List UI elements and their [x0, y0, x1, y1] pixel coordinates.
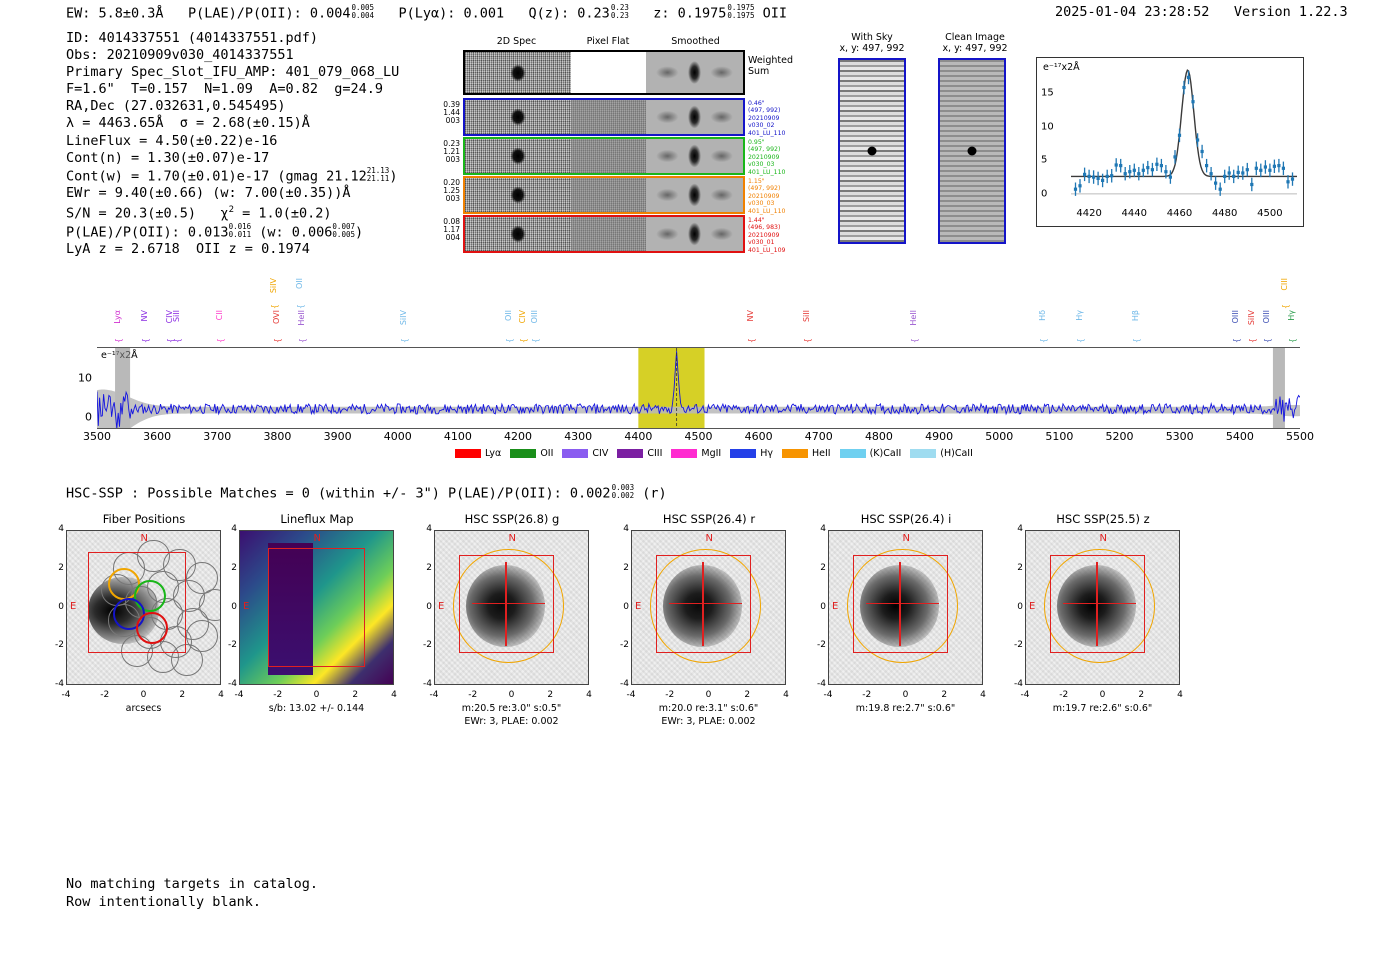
cell-pixelflat-wsum [571, 52, 646, 93]
cell-smoothed-4 [646, 217, 743, 251]
emission-line-label-NV: NV [141, 310, 149, 321]
panel-xtick: 4 [386, 690, 402, 700]
cell-2dspec-1 [465, 100, 571, 134]
panel-ytick: 0 [611, 602, 629, 612]
fullspec-xtick: 3700 [203, 430, 231, 443]
header-z-errors: 0.19750.1975 [727, 4, 754, 20]
cell-2dspec-3 [465, 178, 571, 212]
fullspec-xtick: 5000 [985, 430, 1013, 443]
hsc-header-tail: (r) [642, 485, 666, 501]
panel-xtick: -4 [58, 690, 74, 700]
fullspec-xtick: 4900 [925, 430, 953, 443]
info-gmag-errors: 21.1321.11 [367, 167, 390, 183]
legend-item-CIV: CIV [562, 448, 608, 459]
image-panel-lineflux-map[interactable]: NE [239, 530, 394, 685]
emission-line-label-SiIV: SiIV [270, 278, 278, 293]
header-plae-errors: 0.0050.004 [352, 4, 375, 20]
cell-smoothed-wsum [646, 52, 743, 93]
legend-item-MgII: MgII [671, 448, 721, 459]
legend-label: OII [540, 448, 553, 459]
panel-xtick: 4 [975, 690, 991, 700]
panel-xtick: -2 [270, 690, 286, 700]
weighted-sum-label: Weighted Sum [748, 55, 793, 77]
cell-2dspec-4 [465, 217, 571, 251]
panel-ytick: -4 [1005, 679, 1023, 689]
panel-ytick: 4 [808, 524, 826, 534]
panel-caption-primary-3: m:20.0 re:3.1" s:0.6" [594, 703, 824, 715]
col-title-pixelflat: Pixel Flat [570, 36, 646, 47]
panel-ytick: 4 [414, 524, 432, 534]
header-plya: P(Lyα): 0.001 [398, 5, 504, 21]
col-title-smoothed: Smoothed [646, 36, 745, 47]
info-radec: RA,Dec (27.032631,0.545495) [66, 98, 285, 114]
fullspec-xtick: 3900 [324, 430, 352, 443]
cell-pixelflat-2 [571, 139, 646, 173]
legend-swatch [730, 449, 756, 458]
cutout-title-clean-text: Clean Image [923, 32, 1027, 43]
fullspec-xtick: 5400 [1226, 430, 1254, 443]
legend-swatch [840, 449, 866, 458]
cutout-title-clean-image: Clean Image x, y: 497, 992 [923, 32, 1027, 54]
panel-xtick: 4 [1172, 690, 1188, 700]
panel-xtick: -2 [662, 690, 678, 700]
info-wavelength-sigma: λ = 4463.65Å σ = 2.68(±0.15)Å [66, 115, 310, 131]
spec-row-1-metadata: 0.46"(497, 992)20210909v030_02401_LU_110 [748, 100, 828, 137]
fullspec-xtick: 5200 [1106, 430, 1134, 443]
panel-ytick: -4 [219, 679, 237, 689]
full-spectrum-plot[interactable]: e⁻¹⁷x2Å [97, 347, 1300, 429]
cutout-title-with-sky-text: With Sky [823, 32, 921, 43]
panel-xtick: 4 [213, 690, 229, 700]
panel-xtick: 2 [1133, 690, 1149, 700]
panel-xtick: -4 [1017, 690, 1033, 700]
legend-item-CIII: CIII [617, 448, 662, 459]
image-panel-hsc-ssp-25-5-z[interactable]: NE [1025, 530, 1180, 685]
legend-label: CIV [592, 448, 608, 459]
spec-row-4[interactable] [463, 215, 745, 253]
fullspec-xtick: 3800 [263, 430, 291, 443]
panel-xtick: -2 [859, 690, 875, 700]
emission-line-label-SiII: SiII [803, 310, 811, 322]
panel-ytick: 4 [1005, 524, 1023, 534]
info-redshifts: LyA z = 2.6718 OII z = 0.1974 [66, 241, 310, 257]
info-plae-c: ) [355, 224, 363, 240]
panel-ytick: 2 [46, 563, 64, 573]
emission-line-brace: { [400, 338, 409, 343]
panel-title-5: HSC SSP(25.5) z [1016, 512, 1191, 526]
emission-line-label-OIII: OIII [1232, 310, 1240, 323]
panel-xtick: 0 [136, 690, 152, 700]
panel-caption-secondary-2: EWr: 3, PLAE: 0.002 [397, 716, 627, 728]
panel-title-3: HSC SSP(26.4) r [622, 512, 797, 526]
emission-line-label-H: Hδ [1039, 310, 1047, 321]
version: Version 1.22.3 [1234, 4, 1348, 20]
fullspec-xtick: 5500 [1286, 430, 1314, 443]
panel-ytick: -2 [46, 640, 64, 650]
legend-item-KCaII: (K)CaII [840, 448, 902, 459]
legend-label: (H)CaII [940, 448, 973, 459]
fullspec-xtick: 4400 [624, 430, 652, 443]
fullspec-xtick: 4100 [444, 430, 472, 443]
legend-swatch [562, 449, 588, 458]
linefit-xtick: 4460 [1167, 208, 1192, 219]
emission-line-brace: { [531, 338, 540, 343]
panel-ytick: -4 [808, 679, 826, 689]
emission-line-brace: { [1263, 338, 1272, 343]
panel-xtick: -2 [1056, 690, 1072, 700]
spec-row-2[interactable] [463, 137, 745, 175]
emission-line-brace: { [1232, 338, 1241, 343]
info-seeing-params: F=1.6" T=0.157 N=1.09 A=0.82 g=24.9 [66, 81, 383, 97]
fullspec-xtick: 5300 [1166, 430, 1194, 443]
emission-line-label-CIV: CIV [166, 310, 174, 323]
emission-line-brace: { [216, 338, 225, 343]
cutout-coords-with-sky: x, y: 497, 992 [823, 43, 921, 54]
emission-line-brace: { [519, 338, 528, 343]
fullspec-xtick: 4300 [564, 430, 592, 443]
emission-line-label-SiII: SiII [173, 310, 181, 322]
legend-swatch [910, 449, 936, 458]
panel-xtick: 0 [898, 690, 914, 700]
info-plae-w-errors: 0.0070.005 [332, 223, 355, 239]
emission-line-brace: { [298, 338, 307, 343]
panel-ytick: -2 [808, 640, 826, 650]
cutout-coords-clean: x, y: 497, 992 [923, 43, 1027, 54]
legend-swatch [455, 449, 481, 458]
legend-swatch [671, 449, 697, 458]
info-ewr: EWr = 9.40(±0.66) (w: 7.00(±0.35))Å [66, 185, 350, 201]
panel-ytick: 0 [219, 602, 237, 612]
emission-line-label-OIII: OIII [1263, 310, 1271, 323]
emission-line-brace: { [505, 338, 514, 343]
fullspec-ytick: 0 [72, 411, 92, 424]
legend-item-HeII: HeII [782, 448, 831, 459]
info-plae-errors: 0.0160.011 [229, 223, 252, 239]
linefit-xtick: 4420 [1076, 208, 1101, 219]
emission-line-brace: { [270, 304, 279, 309]
info-cont-w-b: ) [389, 168, 397, 184]
panel-xtick: -4 [820, 690, 836, 700]
legend-item-Ly: Lyα [455, 448, 501, 459]
cell-pixelflat-1 [571, 100, 646, 134]
panel-ytick: 0 [808, 602, 826, 612]
emission-line-brace: { [747, 338, 756, 343]
linefit-ytick: 15 [1041, 87, 1054, 98]
emission-line-label-H: Hβ [1132, 310, 1140, 321]
panel-xtick: 0 [701, 690, 717, 700]
fullspec-svg [97, 348, 1300, 428]
legend-swatch [510, 449, 536, 458]
panel-title-0: Fiber Positions [57, 512, 232, 526]
image-panel-hsc-ssp-26-4-r[interactable]: NE [631, 530, 786, 685]
info-sn-b: = 1.0(±0.2) [234, 206, 332, 222]
panel-ytick: -4 [414, 679, 432, 689]
spec-row-2-left-stats: 0.231.21003 [430, 140, 460, 165]
emission-line-brace: { [1039, 338, 1048, 343]
fullspec-xtick: 3600 [143, 430, 171, 443]
cell-2dspec-wsum [465, 52, 571, 93]
panel-ytick: 2 [1005, 563, 1023, 573]
info-cont-w-a: Cont(w) = 1.70(±0.01)e-17 (gmag 21.12 [66, 168, 367, 184]
panel-title-4: HSC SSP(26.4) i [819, 512, 994, 526]
panel-ytick: -2 [611, 640, 629, 650]
legend-item-HCaII: (H)CaII [910, 448, 973, 459]
panel-xtick: 0 [1095, 690, 1111, 700]
fullspec-xtick: 4700 [805, 430, 833, 443]
header-ew: EW: 5.8±0.3Å [66, 5, 164, 21]
legend-swatch [782, 449, 808, 458]
panel-xtick: -2 [465, 690, 481, 700]
legend-label: Lyα [485, 448, 501, 459]
legend-label: Hγ [760, 448, 773, 459]
panel-ytick: 0 [414, 602, 432, 612]
panel-ytick: 2 [219, 563, 237, 573]
cutout-with-sky[interactable] [838, 58, 906, 244]
legend-label: MgII [701, 448, 721, 459]
info-cont-n: Cont(n) = 1.30(±0.07)e-17 [66, 150, 269, 166]
panel-caption-primary-2: m:20.5 re:3.0" s:0.5" [397, 703, 627, 715]
spec-row-3-left-stats: 0.201.25003 [430, 179, 460, 204]
panel-ytick: 4 [219, 524, 237, 534]
panel-xtick: 4 [778, 690, 794, 700]
emission-line-label-SiIV: SiIV [400, 310, 408, 325]
bottom-note: No matching targets in catalog. Row inte… [66, 876, 318, 911]
fullspec-xtick: 4000 [384, 430, 412, 443]
emission-line-brace: { [166, 338, 175, 343]
panel-caption-primary-4: m:19.8 re:2.7" s:0.6" [791, 703, 1021, 715]
panel-ytick: 2 [808, 563, 826, 573]
linefit-xtick: 4440 [1122, 208, 1147, 219]
emission-line-brace: { [1281, 304, 1290, 309]
header-version-line: 2025-01-04 23:28:52 Version 1.22.3 [1055, 4, 1348, 20]
legend-label: HeII [812, 448, 831, 459]
panel-xtick: 2 [936, 690, 952, 700]
header-summary-line: EW: 5.8±0.3Å P(LAE)/P(OII): 0.0040.0050.… [66, 4, 787, 21]
linefit-svg [1037, 58, 1303, 226]
linefit-ytick: 0 [1041, 188, 1047, 199]
spectrum-legend: LyαOIICIVCIIIMgIIHγHeII(K)CaII(H)CaII [455, 448, 973, 459]
timestamp: 2025-01-04 23:28:52 [1055, 4, 1209, 20]
panel-ytick: -4 [46, 679, 64, 689]
emission-line-label-SiIV: SiIV [1248, 310, 1256, 325]
legend-item-H: Hγ [730, 448, 773, 459]
source-info-block: ID: 4014337551 (4014337551.pdf) Obs: 202… [66, 30, 399, 258]
header-z-label: z: 0.1975 [653, 5, 726, 21]
emission-line-label-OII: OII [505, 310, 513, 321]
cell-smoothed-3 [646, 178, 743, 212]
fullspec-ytick: 10 [72, 372, 92, 385]
fullspec-xtick: 4600 [745, 430, 773, 443]
panel-xtick: 2 [347, 690, 363, 700]
spec-row-4-left-stats: 0.081.17004 [430, 218, 460, 243]
panel-ytick: 0 [1005, 602, 1023, 612]
cell-pixelflat-3 [571, 178, 646, 212]
panel-ytick: -2 [414, 640, 432, 650]
panel-ytick: 2 [611, 563, 629, 573]
emission-line-brace: { [296, 304, 305, 309]
image-panel-hsc-ssp-26-4-i[interactable]: NE [828, 530, 983, 685]
emission-line-brace: { [1248, 338, 1257, 343]
emission-line-brace: { [803, 338, 812, 343]
panel-xtick: 0 [309, 690, 325, 700]
panel-xtick: -4 [426, 690, 442, 700]
linefit-xtick: 4500 [1257, 208, 1282, 219]
linefit-xtick: 4480 [1212, 208, 1237, 219]
info-obs: Obs: 20210909v030_4014337551 [66, 47, 294, 63]
panel-xtick: 0 [504, 690, 520, 700]
spec-row-2-metadata: 0.95"(497, 992)20210909v030_03401_LU_110 [748, 139, 828, 176]
linefit-ytick: 5 [1041, 155, 1047, 166]
fullspec-xtick: 4800 [865, 430, 893, 443]
panel-ytick: 4 [611, 524, 629, 534]
emission-line-label-CIV: CIV [519, 310, 527, 323]
panel-xtick: -2 [97, 690, 113, 700]
emission-line-label-H: Hγ [1288, 310, 1296, 321]
spec-row-weighted-sum [463, 50, 745, 95]
emission-line-label-Ly: Lyα [114, 310, 122, 324]
cell-2dspec-2 [465, 139, 571, 173]
cell-smoothed-2 [646, 139, 743, 173]
fullspec-xtick: 4500 [685, 430, 713, 443]
spec-row-3-metadata: 1.15"(497, 992)20210909v030_03401_LU_110 [748, 178, 828, 215]
header-z-type: OII [763, 5, 787, 21]
emission-line-brace: { [1288, 338, 1297, 343]
emission-line-label-CIII: CIII [1281, 278, 1289, 291]
fullspec-xtick: 5100 [1045, 430, 1073, 443]
hsc-header-text: HSC-SSP : Possible Matches = 0 (within +… [66, 485, 611, 501]
emission-line-brace: { [141, 338, 150, 343]
col-title-2dspec: 2D Spec [463, 36, 570, 47]
emission-line-fit-plot[interactable]: e⁻¹⁷x2Å 05101544204440446044804500 [1036, 57, 1304, 227]
panel-caption-primary-5: m:19.7 re:2.6" s:0.6" [988, 703, 1218, 715]
info-plae-b: (w: 0.006 [251, 224, 332, 240]
emission-line-brace: { [910, 338, 919, 343]
panel-ytick: -4 [611, 679, 629, 689]
spec-row-1[interactable] [463, 98, 745, 136]
info-plae-a: P(LAE)/P(OII): 0.013 [66, 224, 229, 240]
panel-xtick: 2 [739, 690, 755, 700]
info-primary-spec: Primary Spec_Slot_IFU_AMP: 401_079_068_L… [66, 64, 399, 80]
header-plae-label: P(LAE)/P(OII): 0.004 [188, 5, 351, 21]
emission-line-label-OIII: OIII [531, 310, 539, 323]
panel-ytick: -2 [1005, 640, 1023, 650]
image-panel-fiber-positions[interactable]: NE [66, 530, 221, 685]
panel-xtick: 2 [542, 690, 558, 700]
panel-caption-secondary-3: EWr: 3, PLAE: 0.002 [594, 716, 824, 728]
emission-line-brace: { [114, 338, 123, 343]
cutout-clean-image[interactable] [938, 58, 1006, 244]
panel-title-1: Lineflux Map [230, 512, 405, 526]
legend-swatch [617, 449, 643, 458]
panel-ytick: 2 [414, 563, 432, 573]
fullspec-xtick: 3500 [83, 430, 111, 443]
emission-line-brace: { [1132, 338, 1141, 343]
emission-line-label-NV: NV [747, 310, 755, 321]
two-d-spectra-panel: 2D Spec Pixel Flat Smoothed Weighted Sum… [430, 36, 820, 246]
cell-smoothed-1 [646, 100, 743, 134]
cutout-title-with-sky: With Sky x, y: 497, 992 [823, 32, 921, 54]
panel-ytick: 4 [46, 524, 64, 534]
emission-line-label-CII: CII [216, 310, 224, 320]
fullspec-xtick: 4200 [504, 430, 532, 443]
emission-line-brace: { [1076, 338, 1085, 343]
emission-line-label-H: Hγ [1076, 310, 1084, 321]
cell-pixelflat-4 [571, 217, 646, 251]
legend-label: CIII [647, 448, 662, 459]
panel-title-2: HSC SSP(26.8) g [425, 512, 600, 526]
panel-xtick: 4 [581, 690, 597, 700]
spec-row-1-left-stats: 0.391.44003 [430, 101, 460, 126]
header-qz-label: Q(z): 0.23 [529, 5, 610, 21]
spec-row-3[interactable] [463, 176, 745, 214]
image-panel-hsc-ssp-26-8-g[interactable]: NE [434, 530, 589, 685]
linefit-ytick: 10 [1041, 121, 1054, 132]
legend-label: (K)CaII [870, 448, 902, 459]
emission-line-label-OVI: OVI [273, 310, 281, 324]
panel-xtick: -4 [231, 690, 247, 700]
info-sn-a: S/N = 20.3(±0.5) χ [66, 206, 229, 222]
legend-item-OII: OII [510, 448, 553, 459]
panel-xtick: 2 [174, 690, 190, 700]
emission-line-label-HeII: HeII [298, 310, 306, 326]
header-qz-errors: 0.230.23 [611, 4, 629, 20]
hsc-ssp-header: HSC-SSP : Possible Matches = 0 (within +… [66, 484, 667, 501]
emission-line-label-OII: OII [296, 278, 304, 289]
panel-ytick: -2 [219, 640, 237, 650]
emission-line-brace: { [273, 338, 282, 343]
panel-ytick: 0 [46, 602, 64, 612]
info-id: ID: 4014337551 (4014337551.pdf) [66, 30, 318, 46]
panel-xtick: -4 [623, 690, 639, 700]
info-lineflux: LineFlux = 4.50(±0.22)e-16 [66, 133, 277, 149]
hsc-header-errors: 0.0030.002 [612, 484, 635, 500]
spec-row-4-metadata: 1.44"(496, 983)20210909v030_01401_LU_109 [748, 217, 828, 254]
emission-line-label-HeII: HeII [910, 310, 918, 326]
